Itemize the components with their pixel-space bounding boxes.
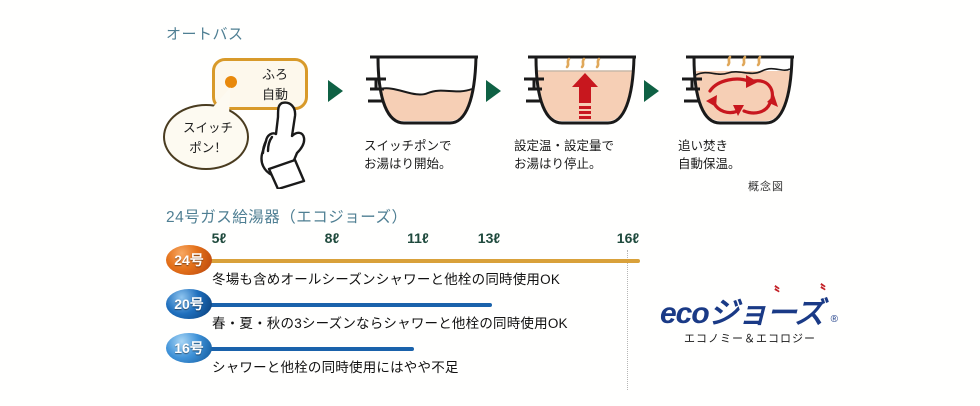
tick-value-11: 11ℓ xyxy=(407,230,429,246)
autobath-section-title: オートバス xyxy=(166,23,244,44)
step-3-caption: 設定温・設定量で お湯はり停止。 xyxy=(514,137,614,173)
row-24go-description: 冬場も含めオールシーズンシャワーと他栓の同時使用OK xyxy=(212,268,560,288)
row-16go-description: シャワーと他栓の同時使用にはやや不足 xyxy=(212,356,459,376)
figure-root: オートバス ふろ 自動 スイッチ ポン！ xyxy=(0,0,980,406)
bathtub-filling-icon xyxy=(356,45,486,141)
heater-section-title: 24号ガス給湯器（エコジョーズ） xyxy=(166,205,407,227)
tick-label-11l: 11ℓ xyxy=(407,230,429,246)
diagram-note: 概念図 xyxy=(748,178,784,194)
tick-value-8: 8ℓ xyxy=(325,230,340,246)
tick-value-5: 5ℓ xyxy=(212,230,227,246)
bar-16go xyxy=(198,347,414,351)
autobath-step-2: スイッチポンで お湯はり開始。 xyxy=(356,45,486,146)
flow-arrow-3 xyxy=(644,80,659,102)
bar-24go xyxy=(198,259,640,263)
tick-label-16l: 16ℓ xyxy=(617,230,639,246)
autobath-step-3: 設定温・設定量で お湯はり停止。 xyxy=(514,45,644,146)
badge-24go: 24号 xyxy=(166,245,212,275)
badge-16go: 16号 xyxy=(166,333,212,363)
tick-label-13l: 13ℓ xyxy=(478,230,500,246)
row-20go-description: 春・夏・秋の3シーズンならシャワーと他栓の同時使用OK xyxy=(212,312,568,332)
autobath-step-4: 追い焚き 自動保温。 xyxy=(672,45,802,146)
speech-bubble: スイッチ ポン！ xyxy=(163,104,249,170)
bathtub-full-icon xyxy=(514,45,644,141)
bathtub-reheat-icon xyxy=(672,45,802,141)
flow-arrow-2 xyxy=(486,80,501,102)
speech-bubble-text: スイッチ ポン！ xyxy=(165,118,251,158)
registered-trademark-icon: ® xyxy=(831,314,838,325)
tick-value-16: 16ℓ xyxy=(617,230,639,246)
flow-arrow-1 xyxy=(328,80,343,102)
eco-jozu-wordmark: ecoジョーズ xyxy=(660,288,840,332)
eco-jozu-tagline: エコノミー＆エコロジー xyxy=(660,330,840,346)
pointing-hand-icon xyxy=(252,97,314,189)
tick-label-5l: 5ℓ xyxy=(212,230,227,246)
autobath-diagram: ふろ 自動 スイッチ ポン！ xyxy=(160,45,840,195)
bar-20go xyxy=(198,303,492,307)
badge-20go: 20号 xyxy=(166,289,212,319)
step-4-caption: 追い焚き 自動保温。 xyxy=(678,137,741,173)
badge-16go-label: 16号 xyxy=(166,333,212,363)
badge-24go-label: 24号 xyxy=(166,245,212,275)
eco-jozu-logo: 〝 〝 ecoジョーズ ® エコノミー＆エコロジー xyxy=(660,288,840,350)
tick-value-13: 13ℓ xyxy=(478,230,500,246)
tick-label-8l: 8ℓ xyxy=(325,230,340,246)
gridline-16l xyxy=(627,250,628,390)
badge-20go-label: 20号 xyxy=(166,289,212,319)
step-2-caption: スイッチポンで お湯はり開始。 xyxy=(364,137,452,173)
